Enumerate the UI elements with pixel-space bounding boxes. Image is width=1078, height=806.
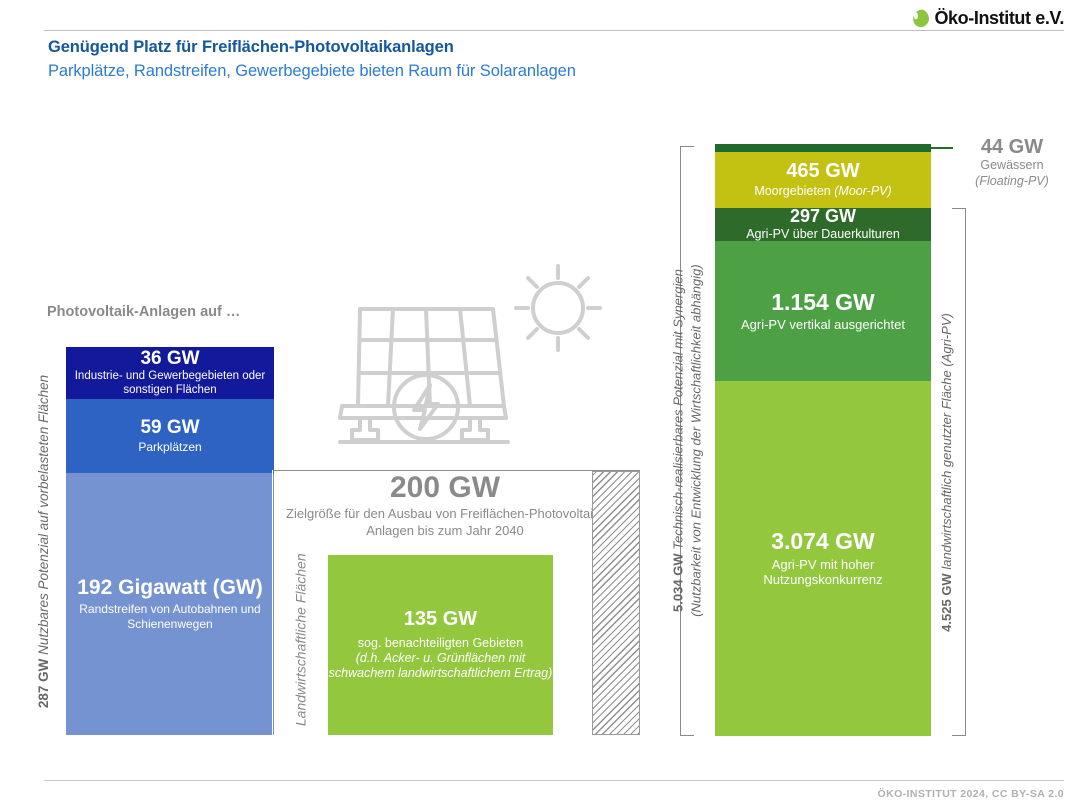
bar-segment-agri-pv-vertikal: 1.154 GW Agri-PV vertikal ausgerichtet [715,241,931,381]
left-column-heading: Photovoltaik-Anlagen auf … [47,304,240,320]
infographic-canvas: Öko-Institut e.V. Genügend Platz für Fre… [0,0,1078,806]
bar-segment-randstreifen: 192 Gigawatt (GW) Randstreifen von Autob… [66,473,274,735]
axis-label-right-inner: 4.525 GW landwirtschaftlich genutzter Fl… [935,208,957,736]
segment-value: 3.074 GW [771,529,875,553]
callout-leader-line [931,147,953,149]
segment-label-plain: Moorgebieten [754,184,830,198]
segment-label: Randstreifen von Autobahnen und Schienen… [66,602,274,631]
hatched-remainder-area [592,471,640,735]
segment-label: Agri-PV über Dauerkulturen [746,227,900,242]
callout-label: Gewässern (Floating-PV) [952,158,1072,189]
axis-label-left: 287 GW Nutzbares Potenzial auf vorbelast… [33,345,55,737]
callout-value: 44 GW [952,136,1072,158]
bar-segment-agri-pv-nutzungskonkurrenz: 3.074 GW Agri-PV mit hoher Nutzungskonku… [715,381,931,736]
bar-segment-benachteiligte-gebiete: 135 GW sog. benachteiligten Gebieten (d.… [328,555,553,735]
segment-value: 1.154 GW [771,290,875,314]
target-label: Zielgröße für den Ausbau von Freiflächen… [280,506,610,539]
segment-label-italic: (Moor-PV) [834,184,891,198]
axis-label-middle: Landwirtschaftliche Flächen [286,545,316,735]
axis-left-text: Nutzbares Potenzial auf vorbelasteten Fl… [37,374,52,654]
page-subtitle: Parkplätze, Randstreifen, Gewerbegebiete… [48,62,948,81]
bar-segment-parkplaetze: 59 GW Parkplätzen [66,399,274,473]
segment-label-italic: (d.h. Acker- u. Grünflächen mit schwache… [329,651,553,680]
segment-label: Agri-PV mit hoher Nutzungskonkurrenz [715,557,931,588]
segment-label: Parkplätzen [138,440,201,454]
segment-label: Industrie- und Gewerbegebieten oder sons… [66,370,274,398]
page-title: Genügend Platz für Freiflächen-Photovolt… [48,38,948,57]
segment-value: 465 GW [786,161,859,182]
callout-label-plain: Gewässern [980,158,1043,172]
bar-segment-agri-pv-dauerkulturen: 297 GW Agri-PV über Dauerkulturen [715,208,931,241]
segment-value: 135 GW [404,609,477,630]
axis-left-value: 287 GW [37,658,52,708]
target-size-callout: 200 GW Zielgröße für den Ausbau von Frei… [280,472,610,539]
callout-label-italic: (Floating-PV) [975,174,1049,188]
leaf-icon [911,8,931,29]
segment-label: sog. benachteiligten Gebieten (d.h. Acke… [328,636,553,681]
segment-value: 192 Gigawatt (GW) [77,577,263,599]
callout-gewaesser: 44 GW Gewässern (Floating-PV) [952,136,1072,189]
bar-segment-gewaesser-floating-pv [715,144,931,152]
bracket-total-potential [680,146,694,736]
header-divider [44,30,1064,31]
oeko-institut-logo: Öko-Institut e.V. [913,8,1064,29]
target-box-left-edge [272,470,273,736]
logo-text: Öko-Institut e.V. [934,8,1064,29]
segment-value: 59 GW [140,418,199,438]
footer-divider [44,780,1064,781]
axis-right-inner-value: 4.525 GW [939,573,954,632]
axis-right-inner-text: landwirtschaftlich genutzter Fläche (Agr… [939,313,954,570]
target-value: 200 GW [280,472,610,504]
segment-label: Agri-PV vertikal ausgerichtet [741,317,905,333]
segment-value: 36 GW [140,349,199,369]
segment-value: 297 GW [790,207,856,226]
footer-credit: ÖKO-INSTITUT 2024, CC BY-SA 2.0 [878,788,1064,800]
segment-label-plain: sog. benachteiligten Gebieten [358,636,523,650]
axis-middle-text: Landwirtschaftliche Flächen [292,554,310,727]
segment-label: Moorgebieten (Moor-PV) [754,184,891,199]
solar-panel-sun-icon [330,252,620,468]
bar-segment-moorgebiete: 465 GW Moorgebieten (Moor-PV) [715,152,931,208]
bar-segment-industrie-gewerbe: 36 GW Industrie- und Gewerbegebieten ode… [66,347,274,399]
